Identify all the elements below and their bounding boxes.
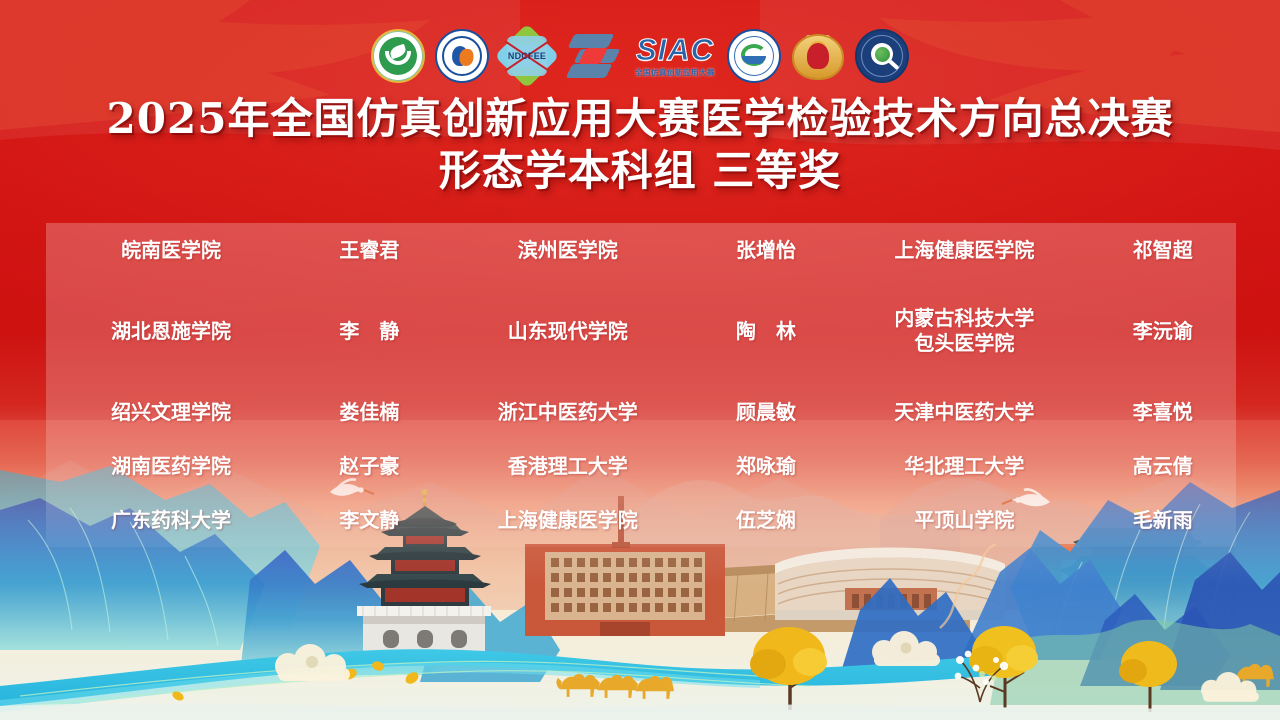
- cell-name: 伍芝娴: [693, 493, 840, 547]
- cell-name: 赵子豪: [296, 439, 443, 493]
- slide-stage: NDCFEE SIAC 全国仿真创新应用大赛: [0, 0, 1280, 720]
- green-swirl-circle-logo: [727, 28, 781, 84]
- navy-globe-magnifier-logo: [855, 28, 909, 84]
- cell-name: 祁智超: [1089, 223, 1236, 277]
- cell-name: 李文静: [296, 493, 443, 547]
- cell-school: 香港理工大学: [443, 439, 693, 493]
- cell-name: 张增怡: [693, 223, 840, 277]
- gold-emblem-logo: [791, 28, 845, 84]
- cell-school: 天津中医药大学: [839, 385, 1089, 439]
- cell-school: 绍兴文理学院: [46, 385, 296, 439]
- table-row: 湖北恩施学院 李 静 山东现代学院 陶 林 内蒙古科技大学 包头医学院 李沅谕: [46, 277, 1236, 385]
- cell-school: 湖南医药学院: [46, 439, 296, 493]
- cell-school: 上海健康医学院: [839, 223, 1089, 277]
- blue-shield-circle-logo: [435, 28, 489, 84]
- cell-name: 李沅谕: [1089, 277, 1236, 385]
- winners-panel: 皖南医学院 王睿君 滨州医学院 张增怡 上海健康医学院 祁智超 湖北恩施学院 李…: [46, 223, 1236, 547]
- cell-name: 陶 林: [693, 277, 840, 385]
- cell-name: 毛新雨: [1089, 493, 1236, 547]
- cell-name: 李喜悦: [1089, 385, 1236, 439]
- ndcfee-hexagon-logo: NDCFEE: [499, 28, 555, 84]
- cell-school-line-1: 内蒙古科技大学: [843, 306, 1085, 331]
- siac-wordmark-logo: SIAC 全国仿真创新应用大赛: [633, 28, 717, 84]
- cell-name: 王睿君: [296, 223, 443, 277]
- cell-school: 山东现代学院: [443, 277, 693, 385]
- table-row: 广东药科大学 李文静 上海健康医学院 伍芝娴 平顶山学院 毛新雨: [46, 493, 1236, 547]
- blue-red-ribbon-mark-logo: [565, 28, 623, 84]
- cell-school: 皖南医学院: [46, 223, 296, 277]
- cell-school: 湖北恩施学院: [46, 277, 296, 385]
- green-hand-leaf-circle-logo: [371, 28, 425, 84]
- table-row: 绍兴文理学院 娄佳楠 浙江中医药大学 顾晨敏 天津中医药大学 李喜悦: [46, 385, 1236, 439]
- cell-name: 郑咏瑜: [693, 439, 840, 493]
- cell-school-two-line: 内蒙古科技大学 包头医学院: [839, 277, 1089, 385]
- table-row: 湖南医药学院 赵子豪 香港理工大学 郑咏瑜 华北理工大学 高云倩: [46, 439, 1236, 493]
- cell-school: 华北理工大学: [839, 439, 1089, 493]
- title-line-2: 形态学本科组 三等奖: [0, 145, 1280, 197]
- cell-school: 上海健康医学院: [443, 493, 693, 547]
- cell-school: 平顶山学院: [839, 493, 1089, 547]
- cell-school: 广东药科大学: [46, 493, 296, 547]
- winners-table: 皖南医学院 王睿君 滨州医学院 张增怡 上海健康医学院 祁智超 湖北恩施学院 李…: [46, 223, 1236, 547]
- cell-name: 顾晨敏: [693, 385, 840, 439]
- organization-logo-bar: NDCFEE SIAC 全国仿真创新应用大赛: [0, 26, 1280, 86]
- siac-subtitle: 全国仿真创新应用大赛: [635, 67, 715, 78]
- siac-text: SIAC: [636, 34, 714, 65]
- cell-school: 浙江中医药大学: [443, 385, 693, 439]
- cell-name: 娄佳楠: [296, 385, 443, 439]
- slide-title: 2025年全国仿真创新应用大赛医学检验技术方向总决赛 形态学本科组 三等奖: [0, 93, 1280, 197]
- cell-name: 高云倩: [1089, 439, 1236, 493]
- table-row: 皖南医学院 王睿君 滨州医学院 张增怡 上海健康医学院 祁智超: [46, 223, 1236, 277]
- ndcfee-label: NDCFEE: [508, 51, 546, 61]
- cell-school: 滨州医学院: [443, 223, 693, 277]
- cell-school-line-2: 包头医学院: [843, 331, 1085, 356]
- cell-name: 李 静: [296, 277, 443, 385]
- title-line-1: 2025年全国仿真创新应用大赛医学检验技术方向总决赛: [0, 93, 1280, 145]
